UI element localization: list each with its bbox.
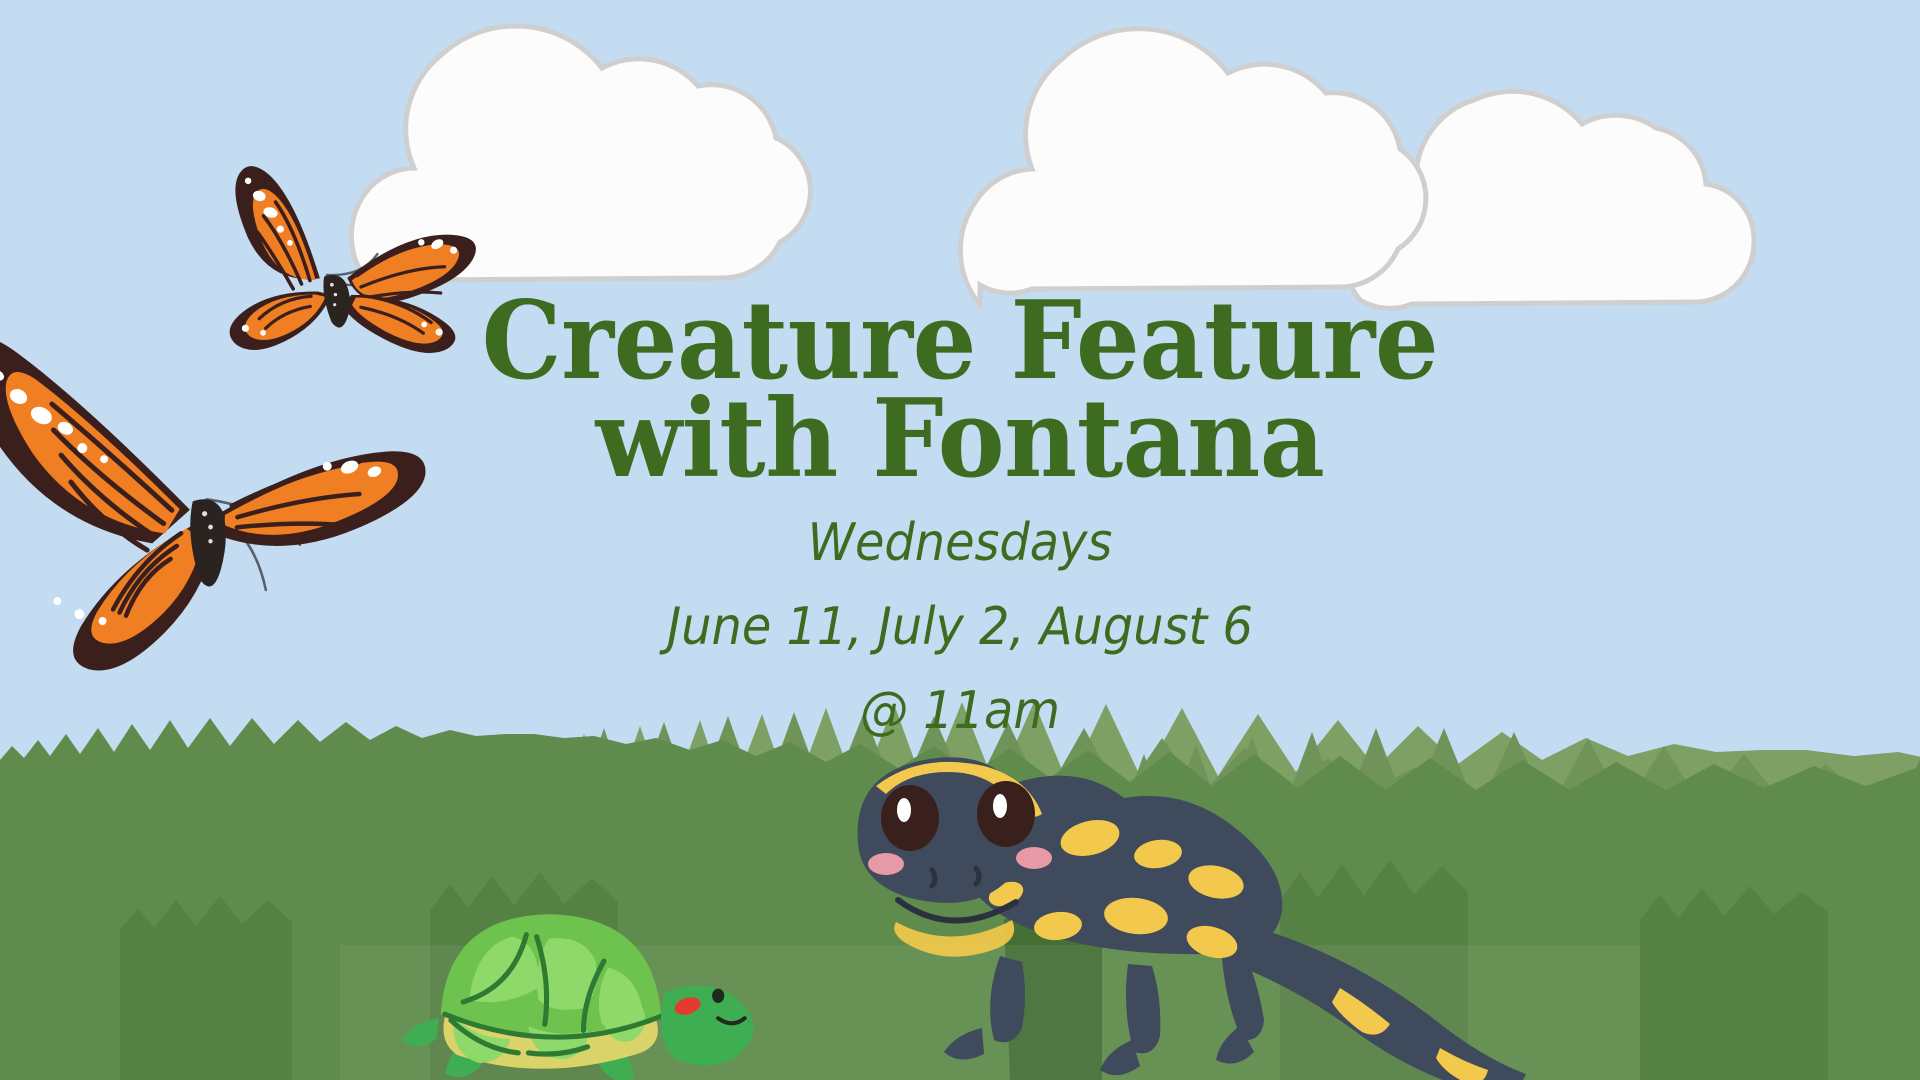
butterfly-large-upper-wing [0, 311, 195, 572]
butterflies-group [0, 0, 1920, 1080]
butterfly-large-icon [0, 278, 447, 684]
butterfly-large-far-wing [211, 446, 433, 555]
butterfly-small-body [323, 274, 352, 329]
butterfly-small-lower-wing [227, 290, 334, 352]
butterfly-small-upper-wing [234, 162, 321, 292]
butterfly-small-icon [218, 151, 483, 367]
butterfly-small-far-upper-wing [345, 232, 480, 305]
poster-canvas: Creature Feature with Fontana Wednesdays… [0, 0, 1920, 1080]
